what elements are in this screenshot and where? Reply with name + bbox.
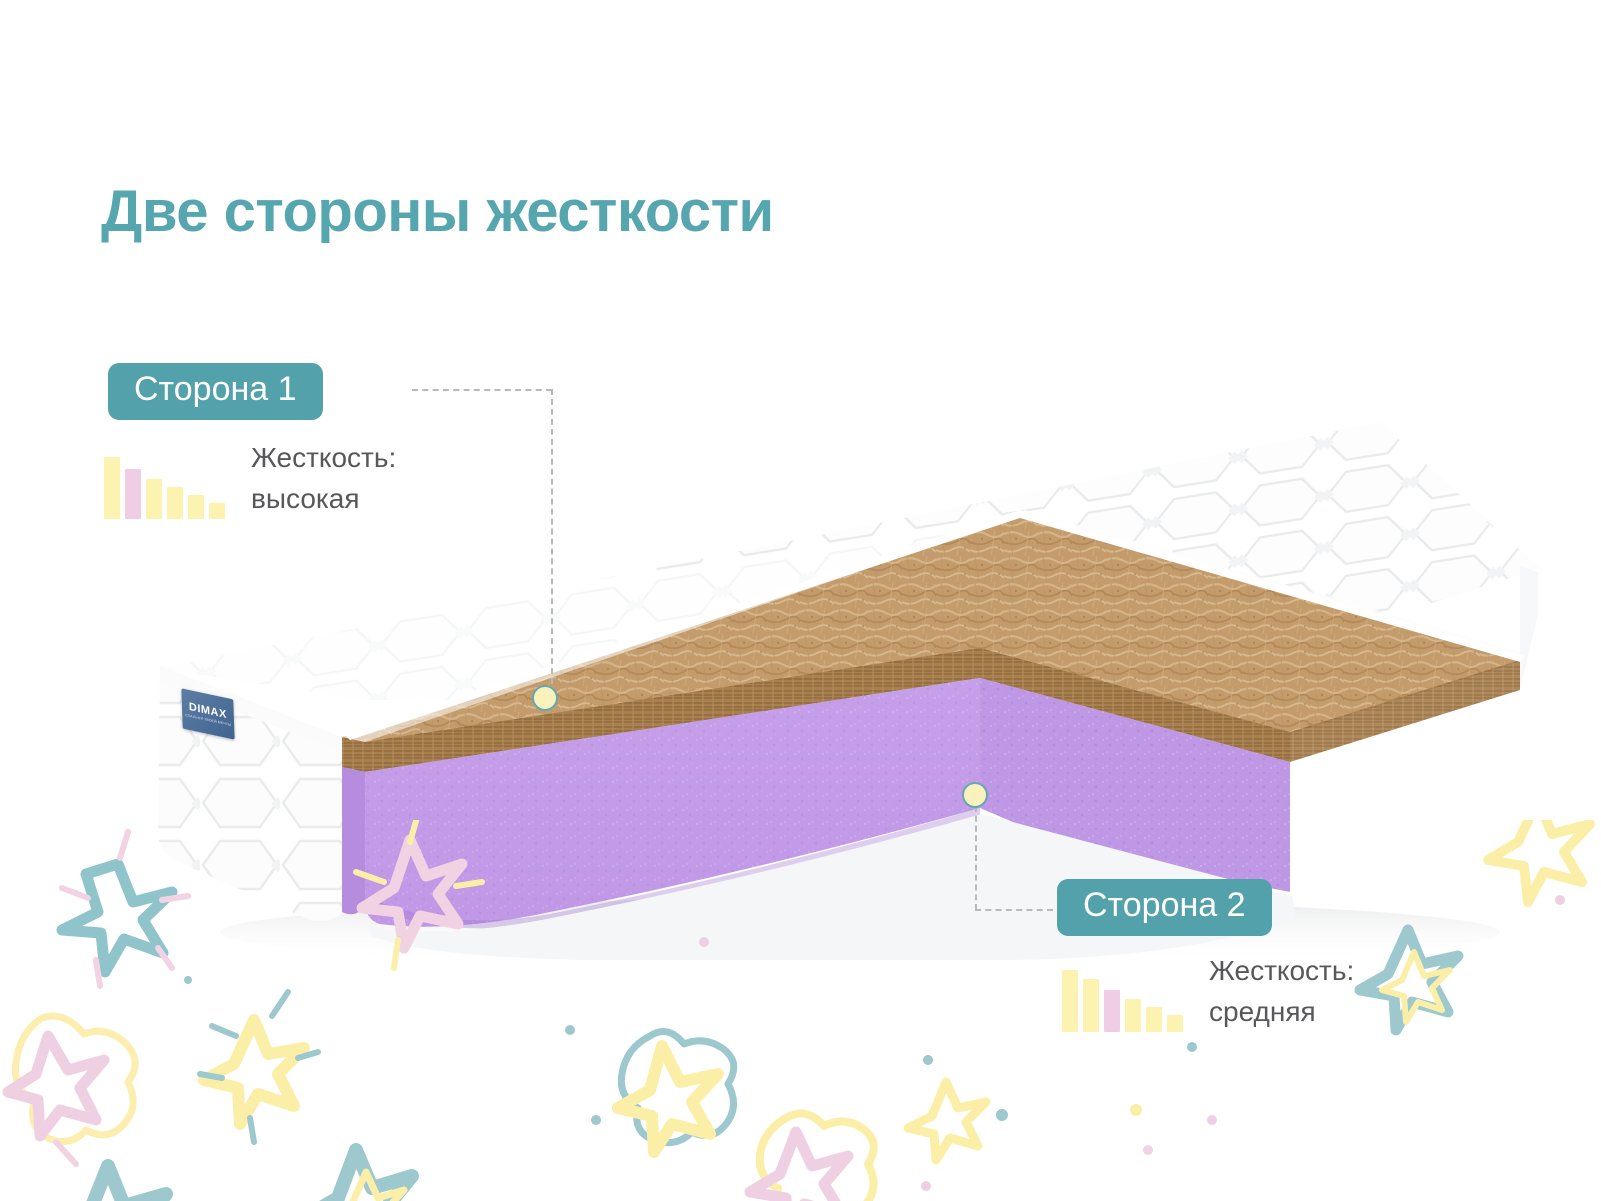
firmness-bar [209,503,225,519]
firmness-bars-icon-side-2 [1062,970,1183,1032]
firmness-bar [146,479,162,519]
firmness-label-side-1: Жесткость: высокая [251,438,396,519]
marker-dot-side-2 [962,782,988,808]
marker-dot-side-1 [532,685,558,711]
firmness-block-side-1: Жесткость: высокая [104,446,396,519]
firmness-bar [1146,1007,1162,1032]
firmness-bar [1062,970,1078,1032]
firmness-bar [104,457,120,519]
firmness-title-side-2: Жесткость: [1209,955,1354,986]
firmness-value-side-2: средняя [1209,992,1354,1033]
leader-line-vertical-2 [975,806,977,910]
firmness-label-side-2: Жесткость: средняя [1209,951,1354,1032]
firmness-bar [1167,1015,1183,1032]
firmness-block-side-2: Жесткость: средняя [1062,959,1354,1032]
firmness-title-side-1: Жесткость: [251,442,396,473]
firmness-bars-icon-side-1 [104,457,225,519]
firmness-bar [188,495,204,519]
leader-line-vertical-1 [551,389,553,694]
firmness-bar [1083,979,1099,1032]
firmness-bar [125,469,141,519]
firmness-bar [1125,999,1141,1032]
infographic-canvas: Две стороны жесткости [0,0,1601,1201]
firmness-bar [167,487,183,519]
leader-line-horizontal-2 [975,909,1053,911]
leader-line-horizontal-1 [412,389,552,391]
firmness-bar [1104,990,1120,1032]
badge-side-1[interactable]: Сторона 1 [108,363,323,420]
firmness-value-side-1: высокая [251,479,396,520]
page-title: Две стороны жесткости [101,178,774,245]
badge-side-2[interactable]: Сторона 2 [1057,879,1272,936]
